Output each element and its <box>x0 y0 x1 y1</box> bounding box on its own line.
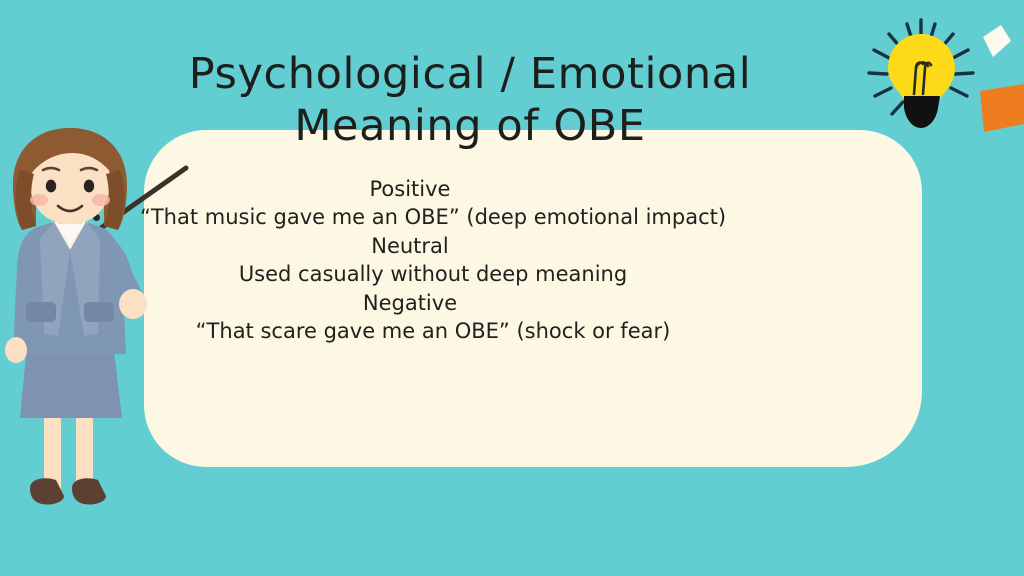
jacket-pocket-left <box>26 302 56 322</box>
cheek-left <box>30 194 48 206</box>
teacher-illustration <box>0 126 200 516</box>
hand-right <box>119 289 147 319</box>
eye-right <box>84 180 94 193</box>
lightbulb-base <box>904 96 940 128</box>
title-line-1: Psychological / Emotional <box>180 48 760 100</box>
slide-canvas: Psychological / Emotional Meaning of OBE… <box>0 0 1024 576</box>
lightbulb-icon <box>862 16 982 136</box>
diamond-shape-icon <box>983 25 1011 57</box>
jacket-pocket-right <box>84 302 114 322</box>
hand-left <box>5 337 27 363</box>
cheek-right <box>92 194 110 206</box>
eye-left <box>46 180 56 193</box>
page-title: Psychological / Emotional Meaning of OBE <box>180 48 760 152</box>
shoes <box>30 478 106 504</box>
title-line-2: Meaning of OBE <box>180 100 760 152</box>
quadrilateral-shape-icon <box>978 84 1024 132</box>
